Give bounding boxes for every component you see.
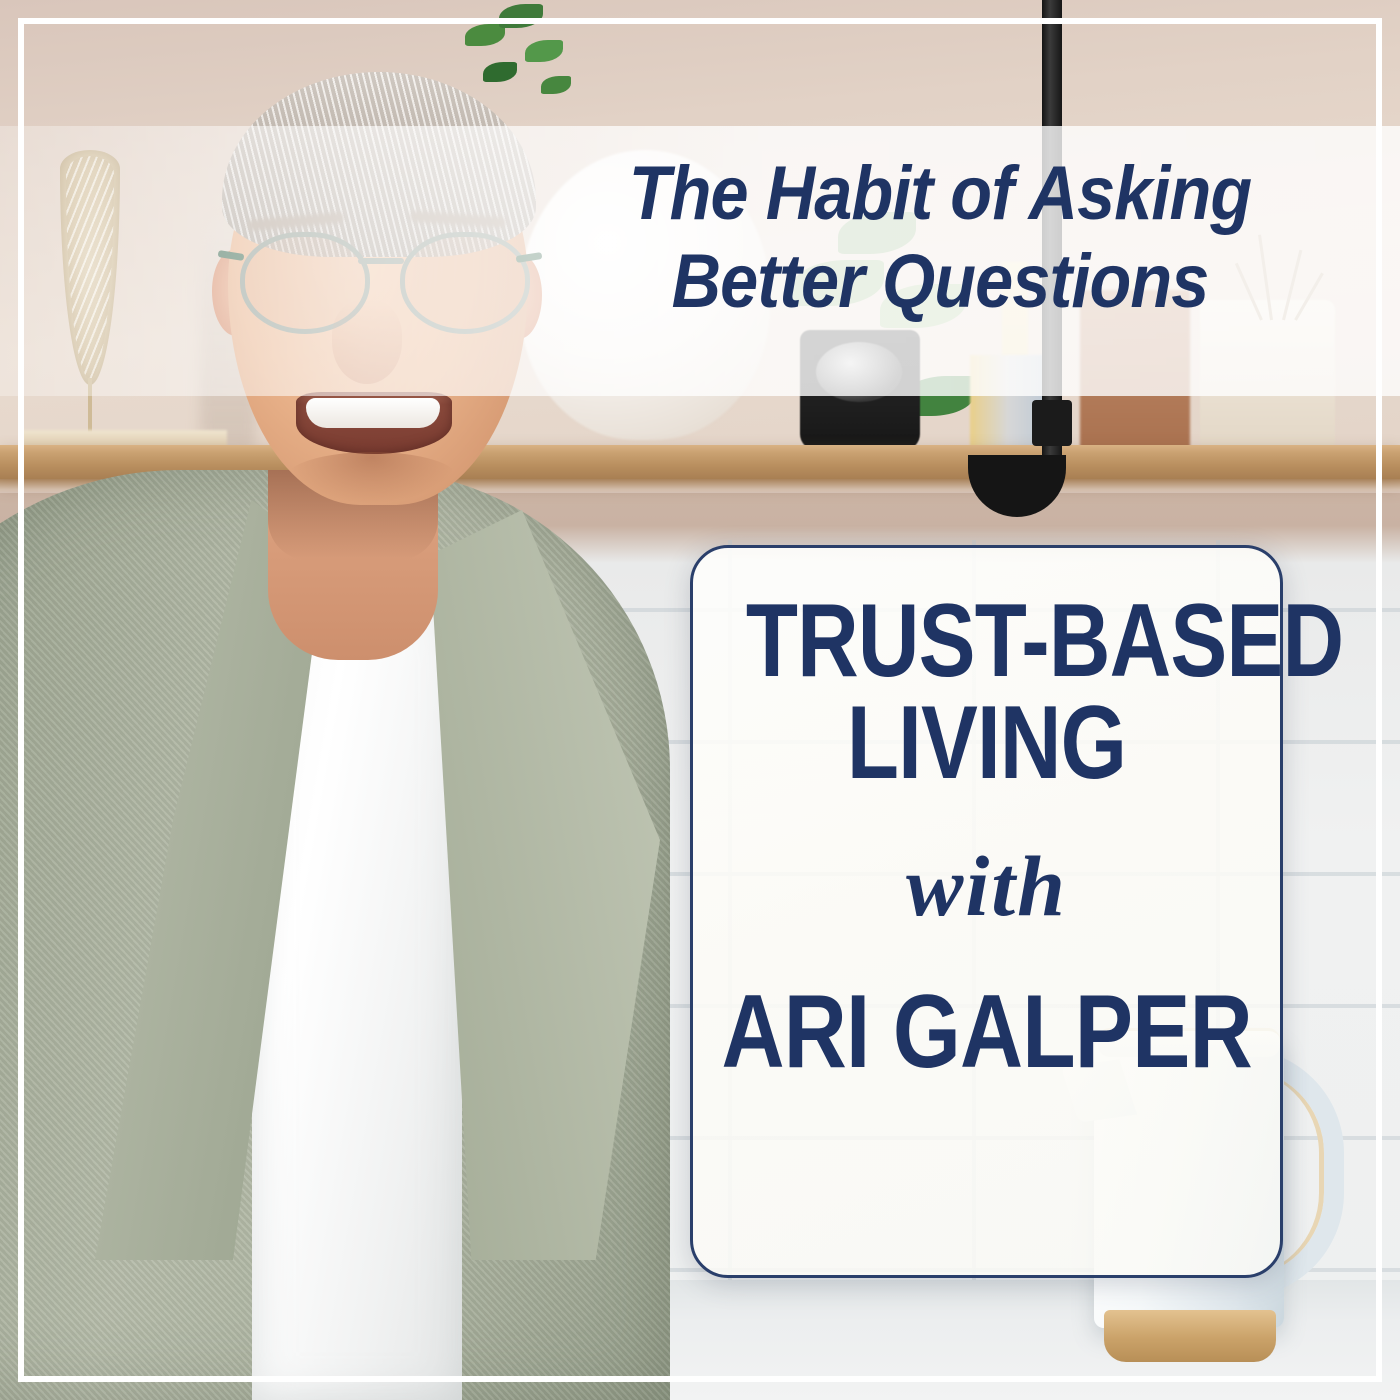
- chin-shadow: [286, 452, 458, 504]
- host-name: ARI GALPER: [721, 980, 1251, 1084]
- show-branding-card: TRUST-BASED LIVING with ARI GALPER: [690, 545, 1283, 1278]
- kettle-wood-base: [1104, 1310, 1276, 1362]
- teeth: [306, 398, 440, 428]
- podcast-cover-art: The Habit of Asking Better Questions TRU…: [0, 0, 1400, 1400]
- pipe-joint: [1032, 400, 1072, 446]
- show-title-line-1: TRUST-BASED: [746, 590, 1227, 692]
- show-title: TRUST-BASED LIVING: [746, 590, 1227, 794]
- episode-title-line-1: The Habit of Asking: [598, 150, 1282, 238]
- show-title-line-2: LIVING: [746, 692, 1227, 794]
- episode-title-line-2: Better Questions: [598, 238, 1282, 326]
- episode-title: The Habit of Asking Better Questions: [598, 150, 1282, 326]
- with-connector: with: [906, 840, 1067, 932]
